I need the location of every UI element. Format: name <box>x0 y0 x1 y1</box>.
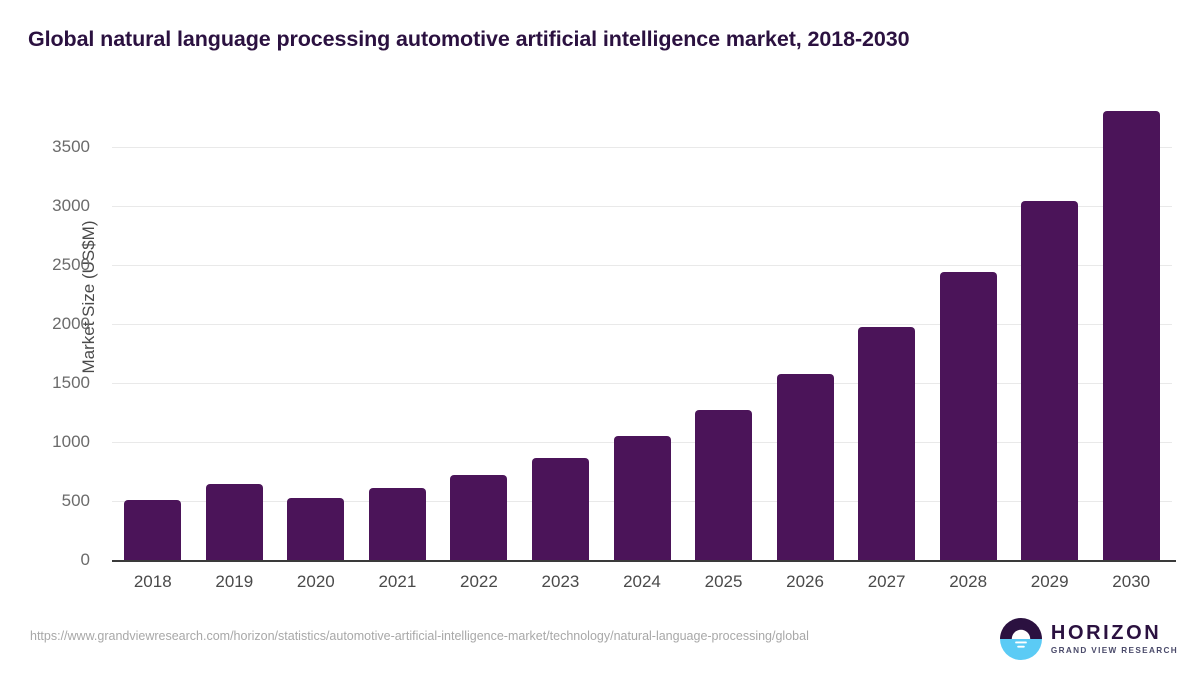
gridline <box>112 383 1172 384</box>
x-tick-label: 2029 <box>1009 572 1091 592</box>
y-tick-label: 2000 <box>52 314 90 334</box>
x-tick-label: 2020 <box>275 572 357 592</box>
x-tick-label: 2024 <box>601 572 683 592</box>
brand-logo[interactable]: HORIZON GRAND VIEW RESEARCH <box>1000 618 1178 660</box>
y-tick-label: 0 <box>81 550 90 570</box>
x-tick-label: 2028 <box>927 572 1009 592</box>
x-tick-label: 2030 <box>1090 572 1172 592</box>
source-url[interactable]: https://www.grandviewresearch.com/horizo… <box>30 628 910 645</box>
x-axis-line <box>112 560 1176 562</box>
chart-page: Global natural language processing autom… <box>0 0 1200 675</box>
x-tick-label: 2027 <box>846 572 928 592</box>
y-tick-label: 500 <box>62 491 90 511</box>
gridline <box>112 265 1172 266</box>
y-tick-label: 3500 <box>52 137 90 157</box>
y-tick-label: 1500 <box>52 373 90 393</box>
x-tick-label: 2022 <box>438 572 520 592</box>
bar[interactable] <box>858 327 915 560</box>
plot-area <box>112 100 1172 560</box>
x-tick-label: 2023 <box>520 572 602 592</box>
bar[interactable] <box>124 500 181 560</box>
y-axis-tick-labels: 0500100015002000250030003500 <box>0 100 112 560</box>
gridline <box>112 206 1172 207</box>
bar[interactable] <box>940 272 997 560</box>
x-tick-label: 2021 <box>357 572 439 592</box>
x-tick-label: 2025 <box>683 572 765 592</box>
bar[interactable] <box>450 475 507 560</box>
bar[interactable] <box>614 436 671 560</box>
x-tick-label: 2019 <box>194 572 276 592</box>
bar[interactable] <box>1103 111 1160 560</box>
logo-wordmark: HORIZON <box>1051 623 1178 643</box>
bar[interactable] <box>1021 201 1078 560</box>
bar[interactable] <box>206 484 263 560</box>
y-tick-label: 3000 <box>52 196 90 216</box>
logo-subtitle: GRAND VIEW RESEARCH <box>1051 647 1178 655</box>
bar[interactable] <box>695 410 752 560</box>
y-tick-label: 2500 <box>52 255 90 275</box>
x-tick-label: 2018 <box>112 572 194 592</box>
y-tick-label: 1000 <box>52 432 90 452</box>
horizon-sun-logo-icon <box>1000 618 1042 660</box>
x-tick-label: 2026 <box>764 572 846 592</box>
bar[interactable] <box>287 498 344 560</box>
bar[interactable] <box>532 458 589 560</box>
gridline <box>112 147 1172 148</box>
page-title: Global natural language processing autom… <box>28 27 909 52</box>
bar[interactable] <box>369 488 426 560</box>
bar[interactable] <box>777 374 834 560</box>
gridline <box>112 324 1172 325</box>
logo-text: HORIZON GRAND VIEW RESEARCH <box>1051 623 1178 655</box>
